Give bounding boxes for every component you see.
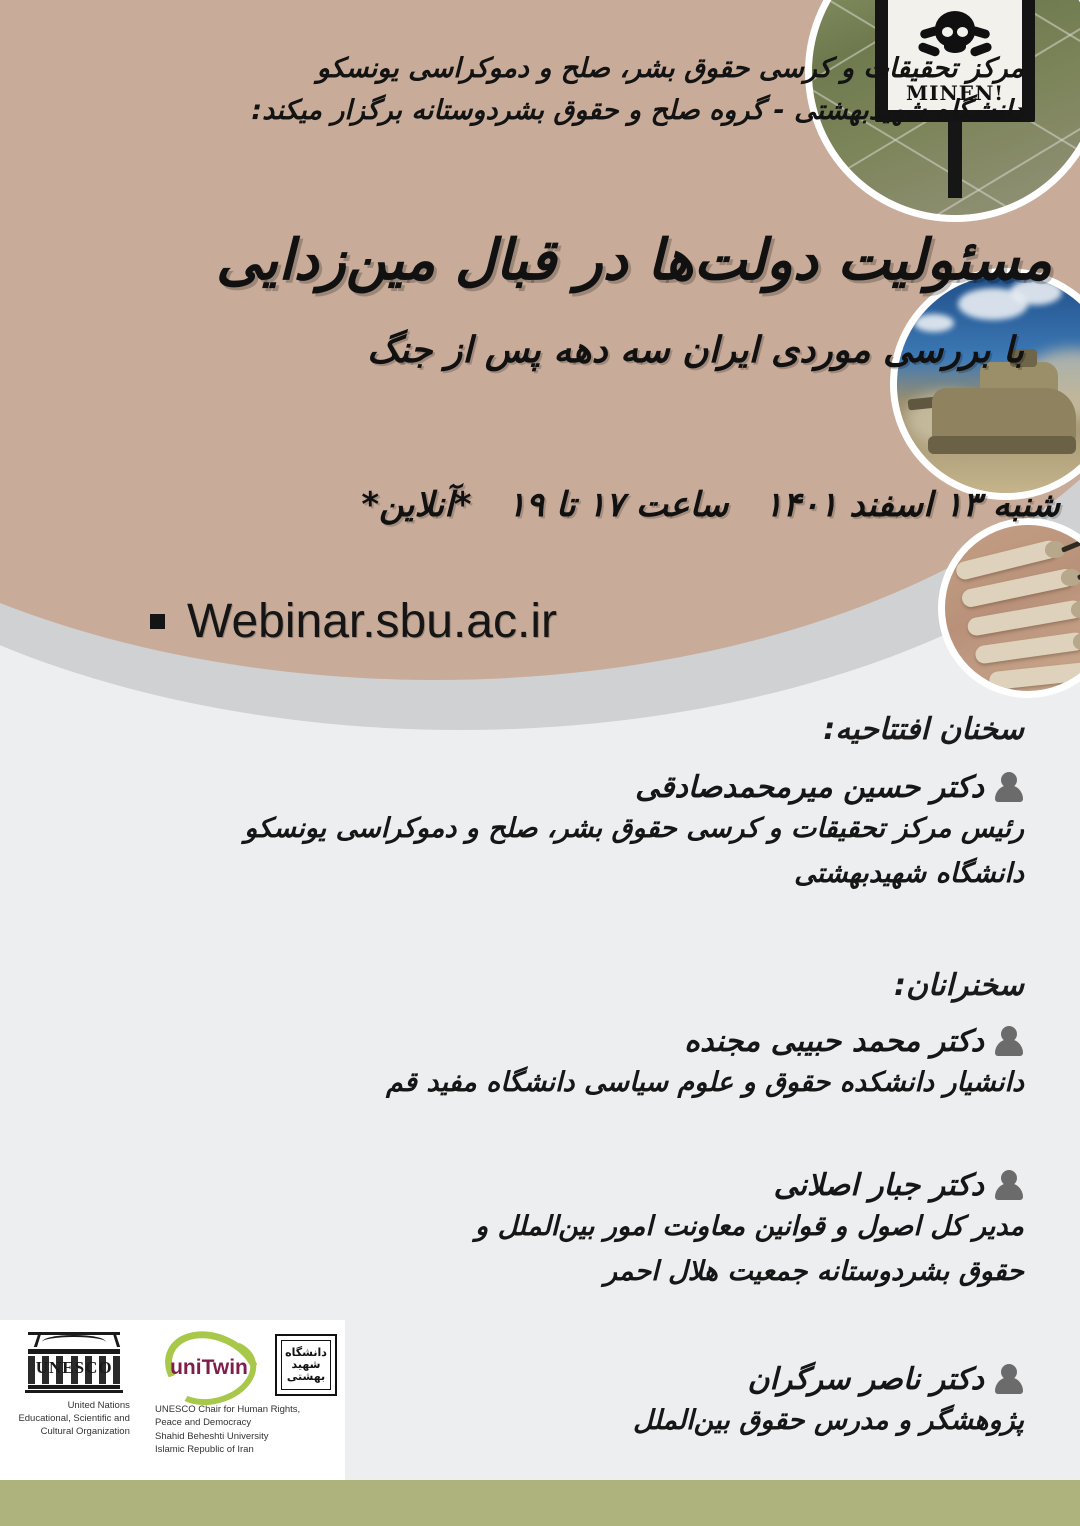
webinar-url-row[interactable]: Webinar.sbu.ac.ir [150,594,557,649]
unesco-caption-line-3: Cultural Organization [18,1426,129,1439]
event-mode-online: *آنلاین* [361,485,471,525]
soldiers-photo [938,518,1080,698]
unesco-temple-icon: UNESCO [28,1332,120,1394]
host-organizer-text: مرکز تحقیقات و کرسی حقوق بشر، صلح و دموک… [244,48,1024,132]
speaker-name-row: دکتر محمد حبیبی مجنده [124,1024,1024,1059]
unitwin-chair-block: uniTwin دانشگاه شهید بهشتی UNESCO Chair … [155,1332,337,1456]
unitwin-caption-line-4: Islamic Republic of Iran [155,1443,337,1456]
poster-subtitle: با بررسی موردی ایران سه دهه پس از جنگ [124,330,1024,371]
tank-photo [890,268,1080,500]
opening-speaker-affiliation-2: دانشگاه شهیدبهشتی [124,854,1024,895]
host-line-1: مرکز تحقیقات و کرسی حقوق بشر، صلح و دموک… [244,48,1024,90]
unesco-logo-block: UNESCO United Nations Educational, Scien… [14,1332,134,1438]
opening-speaker-name: دکتر حسین میرمحمدصادقی [635,770,984,805]
shahid-beheshti-university-seal: دانشگاه شهید بهشتی [275,1334,337,1396]
square-bullet-icon [150,614,165,629]
person-icon [994,1170,1024,1202]
event-time: ساعت ۱۷ تا ۱۹ [508,485,729,525]
poster-main-title: مسئولیت دولت‌ها در قبال مین‌زدایی [122,228,1052,293]
tank-scene [897,275,1080,493]
speaker-2-name: دکتر جبار اصلانی [774,1168,984,1203]
speaker-1-affiliation-1: دانشیار دانشکده حقوق و علوم سیاسی دانشگا… [124,1063,1024,1104]
unitwin-wordmark: uniTwin [157,1356,261,1380]
unesco-wordmark: UNESCO [28,1358,120,1378]
unitwin-caption-line-2: Peace and Democracy [155,1416,337,1429]
host-line-2: دانشگاه شهیدبهشتی - گروه صلح و حقوق بشرد… [244,90,1024,132]
opening-speaker-block: دکتر حسین میرمحمدصادقی رئیس مرکز تحقیقات… [124,770,1024,894]
opening-speaker-name-row: دکتر حسین میرمحمدصادقی [124,770,1024,805]
footer-logo-card: UNESCO United Nations Educational, Scien… [0,1320,345,1480]
speaker-block-2: دکتر جبار اصلانی مدیر کل اصول و قوانین م… [124,1168,1024,1292]
unitwin-caption-line-3: Shahid Beheshti University [155,1430,337,1443]
speaker-2-affiliation-2: حقوق بشردوستانه جمعیت هلال احمر [124,1252,1024,1293]
event-datetime-row: شنبه ۱۳ اسفند ۱۴۰۱ ساعت ۱۷ تا ۱۹ *آنلاین… [180,485,1060,525]
opening-speaker-affiliation-1: رئیس مرکز تحقیقات و کرسی حقوق بشر، صلح و… [124,809,1024,850]
person-icon [994,772,1024,804]
person-icon [994,1364,1024,1396]
unitwin-logo-icon: uniTwin [155,1332,263,1398]
speakers-heading: سخنرانان: [894,968,1024,1003]
opening-remarks-heading: سخنان افتتاحیه: [823,712,1024,747]
speaker-name-row: دکتر جبار اصلانی [124,1168,1024,1203]
unesco-caption: United Nations Educational, Scientific a… [18,1400,129,1438]
speaker-1-name: دکتر محمد حبیبی مجنده [684,1024,984,1059]
person-icon [994,1026,1024,1058]
sbu-seal-text: دانشگاه شهید بهشتی [281,1340,331,1390]
bottom-green-band [0,1480,1080,1526]
soldiers-scene [945,525,1080,691]
speaker-block-1: دکتر محمد حبیبی مجنده دانشیار دانشکده حق… [124,1024,1024,1104]
unesco-caption-line-2: Educational, Scientific and [18,1413,129,1426]
speaker-2-affiliation-1: مدیر کل اصول و قوانین معاونت امور بین‌ال… [124,1207,1024,1248]
unitwin-caption: UNESCO Chair for Human Rights, Peace and… [155,1403,337,1456]
webinar-url-link[interactable]: Webinar.sbu.ac.ir [187,594,557,649]
poster-canvas: ACHTUNG MINEN! [0,0,1080,1526]
event-date: شنبه ۱۳ اسفند ۱۴۰۱ [764,485,1060,525]
speaker-3-name: دکتر ناصر سرگران [747,1362,984,1397]
unesco-caption-line-1: United Nations [18,1400,129,1413]
